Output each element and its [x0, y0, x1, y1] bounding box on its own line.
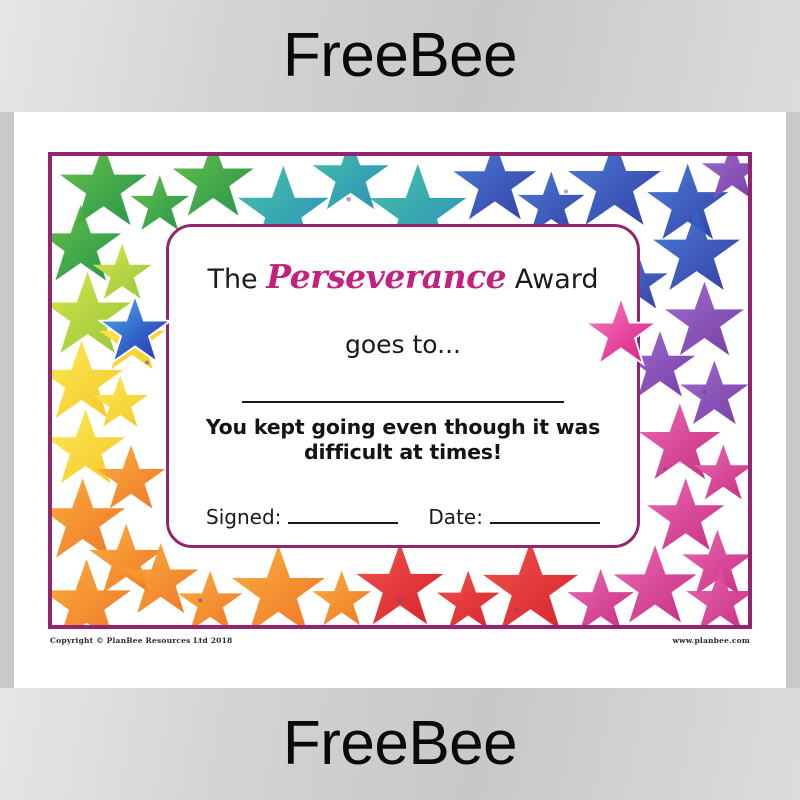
message-line-1: You kept going even though it was: [189, 415, 617, 440]
signed-input-line[interactable]: [288, 509, 398, 524]
bottom-banner-label: FreeBee: [283, 713, 517, 775]
award-name: Perseverance: [266, 257, 506, 296]
date-field: Date:: [428, 505, 600, 529]
signed-field: Signed:: [206, 505, 398, 529]
top-freebee-banner: FreeBee: [0, 0, 800, 112]
goes-to-label: goes to...: [189, 330, 617, 359]
date-input-line[interactable]: [490, 509, 600, 524]
website-url[interactable]: www.planbee.com: [672, 636, 750, 645]
certificate-frame: The Perseverance Award goes to... You ke…: [48, 152, 752, 629]
signed-label: Signed:: [206, 505, 281, 529]
copyright-text: Copyright © PlanBee Resources Ltd 2018: [50, 636, 232, 645]
top-banner-label: FreeBee: [283, 25, 517, 87]
certificate-page-sheet: The Perseverance Award goes to... You ke…: [14, 112, 786, 688]
recipient-name-line[interactable]: [242, 401, 564, 403]
headline-prefix: The: [207, 264, 257, 295]
date-label: Date:: [428, 505, 483, 529]
message-line-2: difficult at times!: [189, 440, 617, 465]
certificate-footer: Copyright © PlanBee Resources Ltd 2018 w…: [48, 636, 752, 658]
signature-row: Signed: Date:: [189, 505, 617, 529]
certificate-headline: The Perseverance Award: [189, 257, 617, 296]
certificate-inner-card: The Perseverance Award goes to... You ke…: [166, 224, 640, 548]
bottom-freebee-banner: FreeBee: [0, 688, 800, 800]
headline-suffix: Award: [515, 264, 599, 295]
certificate-message: You kept going even though it was diffic…: [189, 415, 617, 465]
